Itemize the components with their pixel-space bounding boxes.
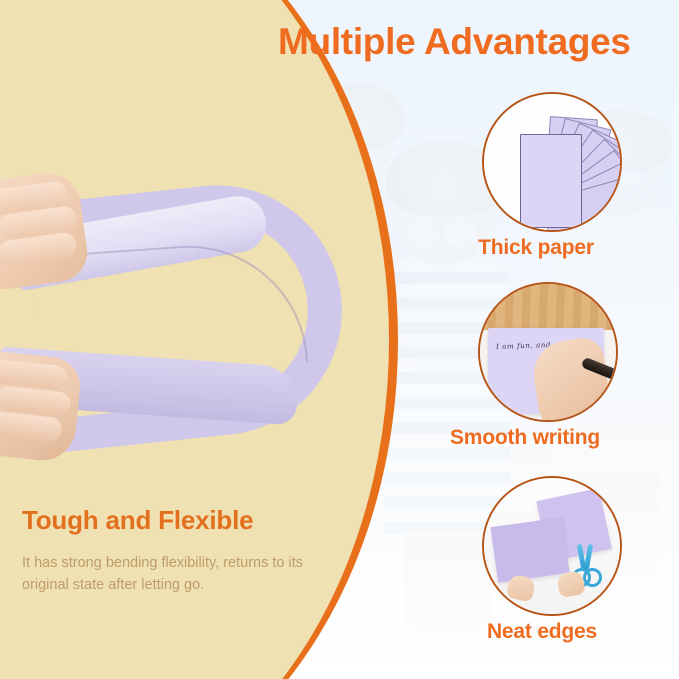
- wooden-desk-surface: [480, 284, 616, 330]
- feature-image-circle: [482, 476, 622, 616]
- feature-image-circle: [482, 92, 622, 232]
- left-block-title: Tough and Flexible: [22, 505, 253, 536]
- scissors-blade: [584, 544, 593, 570]
- feature-neat-edges: Neat edges: [482, 476, 622, 644]
- feature-smooth-writing: I am fun, and Smooth writing: [478, 282, 618, 450]
- feature-label: Neat edges: [472, 620, 612, 644]
- feature-label: Smooth writing: [450, 426, 590, 450]
- feature-image-circle: I am fun, and: [478, 282, 618, 422]
- lavender-sheet-front: [490, 517, 569, 582]
- bending-paper-photo: [0, 165, 370, 465]
- feature-thick-paper: Thick paper: [482, 92, 622, 260]
- left-block-body: It has strong bending flexibility, retur…: [22, 552, 344, 597]
- banner-headline: Multiple Advantages: [278, 22, 676, 62]
- product-feature-banner: Multiple Advantages Tough and Flexible I…: [0, 0, 679, 679]
- scissors-handle: [583, 568, 602, 587]
- front-paper-sheet: [520, 134, 582, 228]
- fanned-paper-stack-icon: [498, 112, 608, 216]
- feature-label: Thick paper: [466, 236, 606, 260]
